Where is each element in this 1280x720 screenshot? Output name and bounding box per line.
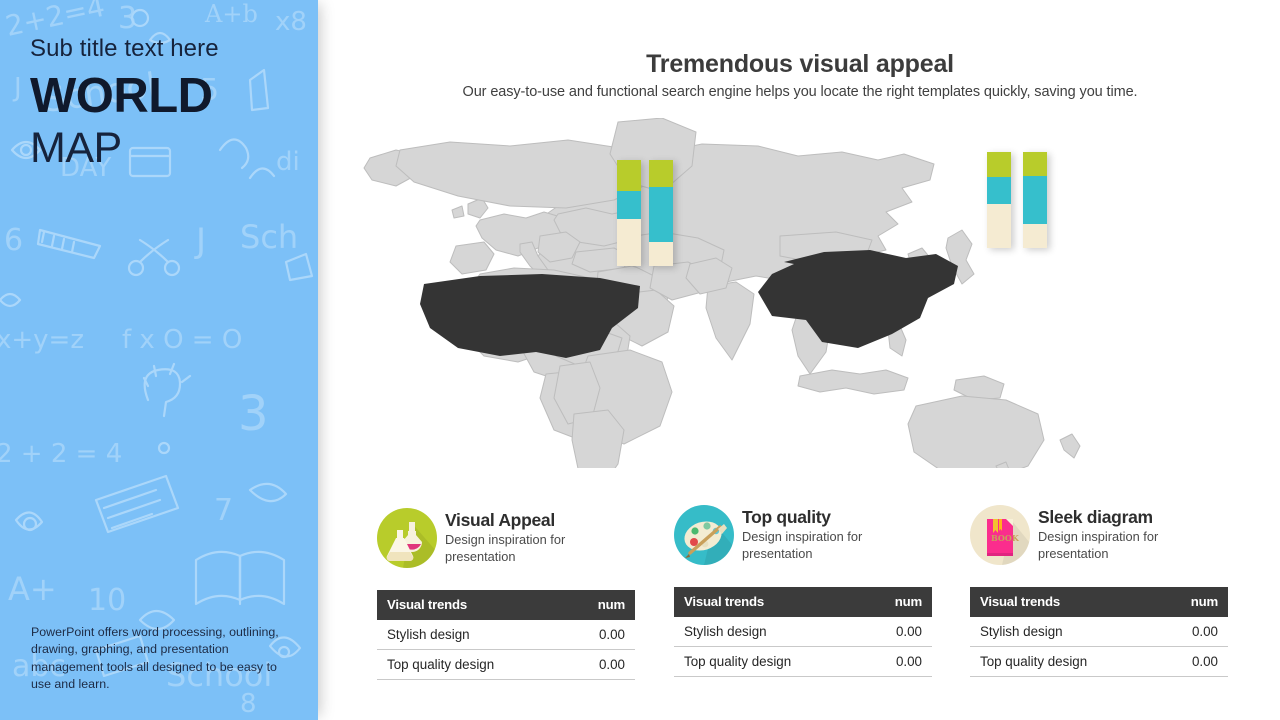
- svg-text:3: 3: [118, 1, 137, 36]
- region-india: [706, 282, 754, 360]
- svg-text:J: J: [12, 73, 22, 103]
- region-indonesia: [798, 370, 908, 394]
- row-label: Stylish design: [674, 617, 803, 647]
- data-table: Visual trends num Stylish design 0.00 To…: [970, 587, 1228, 677]
- column-header-num: num: [506, 590, 635, 620]
- region-spain-portugal: [450, 242, 494, 274]
- bar-segment-bottom: [987, 204, 1011, 248]
- card-sleek-diagram[interactable]: BOOK Sleek diagram Design inspiration fo…: [970, 505, 1228, 677]
- card-top-quality[interactable]: Top quality Design inspiration for prese…: [674, 505, 932, 677]
- svg-text:x+y=z: x+y=z: [0, 325, 84, 355]
- row-value: 0.00: [1099, 647, 1228, 677]
- map-bar-asia-2: [649, 160, 673, 266]
- slide-canvas: 2+2=4 3 A+b x8 School 5 J DAY di: [0, 0, 1280, 720]
- bar-segment-middle: [1023, 176, 1047, 224]
- palette-icon: [674, 505, 734, 565]
- svg-text:x8: x8: [275, 7, 307, 37]
- column-header-num: num: [1099, 587, 1228, 617]
- bar-segment-bottom: [1023, 224, 1047, 248]
- sidebar-title-line-2: MAP: [30, 124, 292, 172]
- column-header-label: Visual trends: [377, 590, 506, 620]
- table-row[interactable]: Top quality design 0.00: [377, 650, 635, 680]
- card-text: Visual Appeal Design inspiration for pre…: [445, 508, 635, 565]
- row-value: 0.00: [803, 647, 932, 677]
- svg-text:A+: A+: [8, 570, 57, 608]
- row-label: Stylish design: [377, 620, 506, 650]
- row-label: Top quality design: [674, 647, 803, 677]
- card-title: Sleek diagram: [1038, 507, 1228, 527]
- card-visual-appeal[interactable]: Visual Appeal Design inspiration for pre…: [377, 508, 635, 680]
- svg-text:10: 10: [88, 583, 126, 618]
- bar-segment-top: [649, 160, 673, 187]
- svg-text:Sch: Sch: [240, 218, 298, 256]
- card-description: Design inspiration for presentation: [1038, 529, 1198, 562]
- bar-segment-top: [617, 160, 641, 191]
- row-value: 0.00: [506, 650, 635, 680]
- table-row[interactable]: Stylish design 0.00: [377, 620, 635, 650]
- bar-segment-middle: [617, 191, 641, 220]
- row-label: Stylish design: [970, 617, 1099, 647]
- row-value: 0.00: [1099, 617, 1228, 647]
- bar-segment-middle: [649, 187, 673, 242]
- bar-segment-top: [987, 152, 1011, 177]
- row-label: Top quality design: [377, 650, 506, 680]
- svg-text:7: 7: [214, 493, 233, 528]
- book-icon: BOOK: [970, 505, 1030, 565]
- table-header-row: Visual trends num: [970, 587, 1228, 617]
- map-bar-usa-2: [1023, 152, 1047, 248]
- card-header: BOOK Sleek diagram Design inspiration fo…: [970, 505, 1228, 571]
- column-header-label: Visual trends: [970, 587, 1099, 617]
- card-title: Visual Appeal: [445, 510, 635, 530]
- card-header: Visual Appeal Design inspiration for pre…: [377, 508, 635, 574]
- sidebar-heading-block: Sub title text here WORLD MAP: [30, 34, 292, 172]
- sidebar-title-line-1: WORLD: [30, 70, 292, 122]
- card-text: Top quality Design inspiration for prese…: [742, 505, 932, 562]
- card-header: Top quality Design inspiration for prese…: [674, 505, 932, 571]
- world-map: [360, 118, 1210, 468]
- sidebar-subtitle: Sub title text here: [30, 34, 292, 64]
- svg-text:BOOK: BOOK: [991, 533, 1020, 543]
- page-subtitle: Our easy-to-use and functional search en…: [320, 84, 1280, 100]
- column-header-num: num: [803, 587, 932, 617]
- row-value: 0.00: [803, 617, 932, 647]
- svg-text:6: 6: [4, 223, 23, 258]
- table-header-row: Visual trends num: [377, 590, 635, 620]
- map-bar-usa-1: [987, 152, 1011, 248]
- world-map-svg: [360, 118, 1210, 468]
- svg-text:A+b: A+b: [204, 0, 258, 28]
- map-bar-asia-1: [617, 160, 641, 266]
- svg-text:2 + 2 = 4: 2 + 2 = 4: [0, 439, 122, 469]
- sidebar-body-text: PowerPoint offers word processing, outli…: [31, 624, 283, 694]
- table-row[interactable]: Top quality design 0.00: [970, 647, 1228, 677]
- bar-segment-top: [1023, 152, 1047, 176]
- sidebar-panel: 2+2=4 3 A+b x8 School 5 J DAY di: [0, 0, 318, 720]
- card-description: Design inspiration for presentation: [742, 529, 902, 562]
- table-header-row: Visual trends num: [674, 587, 932, 617]
- card-text: Sleek diagram Design inspiration for pre…: [1038, 505, 1228, 562]
- page-title: Tremendous visual appeal: [320, 50, 1280, 79]
- bar-segment-middle: [987, 177, 1011, 204]
- data-table: Visual trends num Stylish design 0.00 To…: [377, 590, 635, 680]
- table-row[interactable]: Stylish design 0.00: [674, 617, 932, 647]
- svg-text:3: 3: [238, 386, 269, 442]
- data-table: Visual trends num Stylish design 0.00 To…: [674, 587, 932, 677]
- region-new-zealand: [1060, 434, 1080, 458]
- region-ireland: [452, 206, 464, 218]
- row-value: 0.00: [506, 620, 635, 650]
- flask-icon: [377, 508, 437, 568]
- bar-segment-bottom: [617, 219, 641, 266]
- svg-text:J: J: [194, 221, 206, 261]
- region-australia: [908, 396, 1044, 468]
- table-row[interactable]: Top quality design 0.00: [674, 647, 932, 677]
- column-header-label: Visual trends: [674, 587, 803, 617]
- card-description: Design inspiration for presentation: [445, 532, 605, 565]
- svg-text:f x O = O: f x O = O: [122, 325, 242, 355]
- table-row[interactable]: Stylish design 0.00: [970, 617, 1228, 647]
- card-title: Top quality: [742, 507, 932, 527]
- bar-segment-bottom: [649, 242, 673, 266]
- row-label: Top quality design: [970, 647, 1099, 677]
